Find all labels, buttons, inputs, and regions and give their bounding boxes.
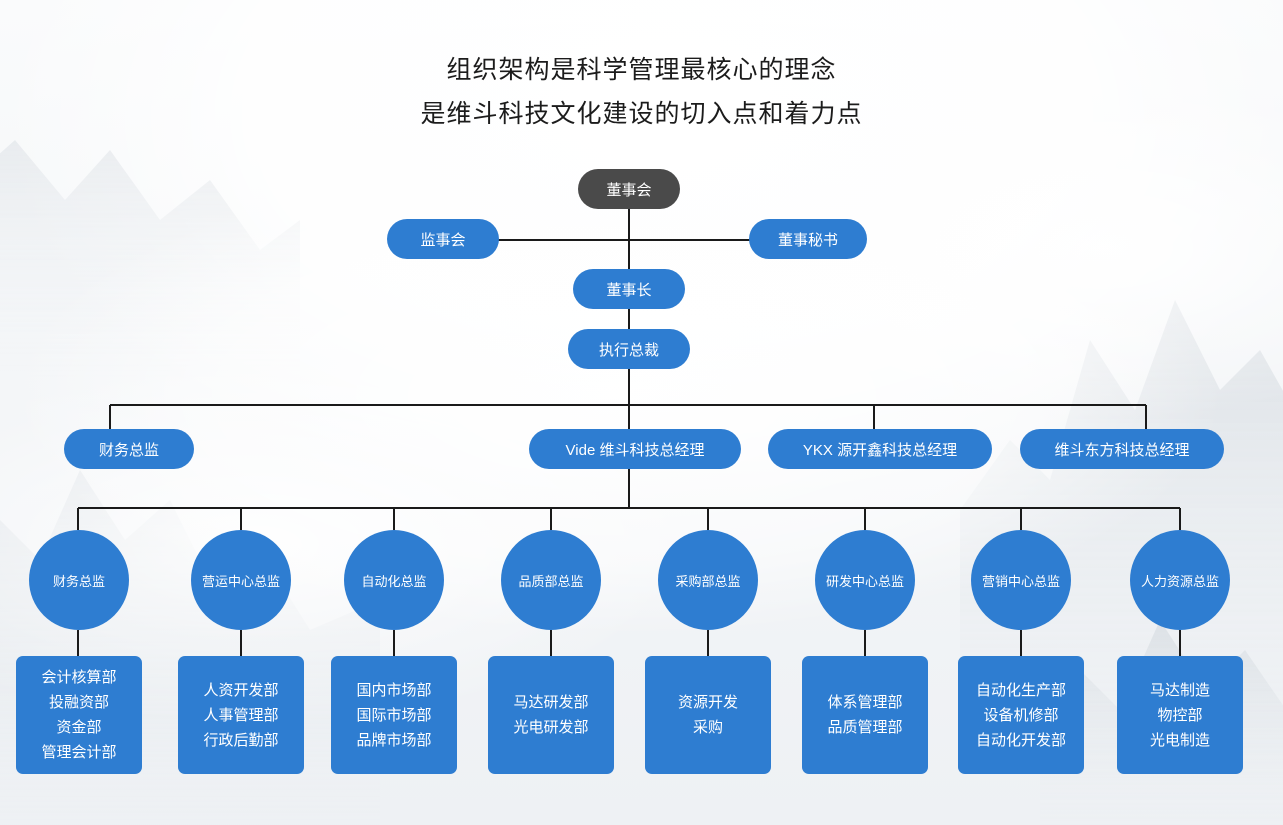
- page-title: 组织架构是科学管理最核心的理念 是维斗科技文化建设的切入点和着力点: [0, 48, 1283, 136]
- org-chart-canvas: 组织架构是科学管理最核心的理念 是维斗科技文化建设的切入点和着力点: [0, 0, 1283, 825]
- node-director-rnd-label: 研发中心总监: [826, 571, 904, 590]
- node-board[interactable]: 董事会: [578, 169, 680, 209]
- dept-line: 采购: [653, 715, 763, 740]
- node-manager-dongfang-label: 维斗东方科技总经理: [1054, 439, 1189, 460]
- node-secretary-label: 董事秘书: [778, 229, 838, 250]
- node-director-purchasing[interactable]: 采购部总监: [658, 530, 758, 630]
- node-chairman-label: 董事长: [606, 279, 651, 300]
- node-supervisors-label: 监事会: [420, 229, 465, 250]
- title-line-2: 是维斗科技文化建设的切入点和着力点: [0, 92, 1283, 136]
- dept-box-automation[interactable]: 自动化生产部 设备机修部 自动化开发部: [958, 656, 1084, 774]
- dept-line: 光电制造: [1125, 728, 1235, 753]
- node-chairman[interactable]: 董事长: [573, 269, 685, 309]
- node-director-automation[interactable]: 自动化总监: [344, 530, 444, 630]
- dept-box-manufacturing[interactable]: 马达制造 物控部 光电制造: [1117, 656, 1243, 774]
- dept-box-quality-system[interactable]: 体系管理部 品质管理部: [802, 656, 928, 774]
- node-director-finance[interactable]: 财务总监: [29, 530, 129, 630]
- dept-box-rnd-motor[interactable]: 马达研发部 光电研发部: [488, 656, 614, 774]
- dept-box-hr-admin[interactable]: 人资开发部 人事管理部 行政后勤部: [178, 656, 304, 774]
- dept-box-markets[interactable]: 国内市场部 国际市场部 品牌市场部: [331, 656, 457, 774]
- node-manager-ykx[interactable]: YKX 源开鑫科技总经理: [768, 429, 992, 469]
- dept-line: 设备机修部: [966, 703, 1076, 728]
- dept-line: 体系管理部: [810, 690, 920, 715]
- node-director-purchasing-label: 采购部总监: [675, 571, 740, 590]
- dept-line: 品质管理部: [810, 715, 920, 740]
- node-manager-vide-label: Vide 维斗科技总经理: [566, 439, 705, 460]
- node-manager-dongfang[interactable]: 维斗东方科技总经理: [1020, 429, 1224, 469]
- dept-line: 人事管理部: [186, 703, 296, 728]
- dept-line: 品牌市场部: [339, 728, 449, 753]
- dept-line: 马达制造: [1125, 678, 1235, 703]
- node-supervisors[interactable]: 监事会: [387, 219, 499, 259]
- node-director-quality[interactable]: 品质部总监: [501, 530, 601, 630]
- node-director-hr-label: 人力资源总监: [1141, 571, 1219, 590]
- node-manager-ykx-label: YKX 源开鑫科技总经理: [803, 439, 957, 460]
- dept-line: 马达研发部: [496, 690, 606, 715]
- node-director-marketing[interactable]: 营销中心总监: [971, 530, 1071, 630]
- node-manager-vide[interactable]: Vide 维斗科技总经理: [529, 429, 741, 469]
- node-ceo[interactable]: 执行总裁: [568, 329, 690, 369]
- dept-line: 国际市场部: [339, 703, 449, 728]
- dept-line: 管理会计部: [24, 740, 134, 765]
- dept-line: 投融资部: [24, 690, 134, 715]
- node-board-label: 董事会: [606, 179, 651, 200]
- node-secretary[interactable]: 董事秘书: [749, 219, 867, 259]
- node-director-marketing-label: 营销中心总监: [982, 571, 1060, 590]
- dept-line: 资金部: [24, 715, 134, 740]
- node-director-finance-label: 财务总监: [53, 571, 105, 590]
- node-director-automation-label: 自动化总监: [361, 571, 426, 590]
- dept-line: 物控部: [1125, 703, 1235, 728]
- dept-line: 行政后勤部: [186, 728, 296, 753]
- dept-line: 光电研发部: [496, 715, 606, 740]
- node-director-rnd[interactable]: 研发中心总监: [815, 530, 915, 630]
- dept-line: 自动化开发部: [966, 728, 1076, 753]
- node-director-operations[interactable]: 营运中心总监: [191, 530, 291, 630]
- dept-box-purchasing[interactable]: 资源开发 采购: [645, 656, 771, 774]
- dept-line: 国内市场部: [339, 678, 449, 703]
- dept-line: 自动化生产部: [966, 678, 1076, 703]
- dept-line: 会计核算部: [24, 665, 134, 690]
- dept-box-finance[interactable]: 会计核算部 投融资部 资金部 管理会计部: [16, 656, 142, 774]
- node-manager-cfo-label: 财务总监: [99, 439, 159, 460]
- node-director-quality-label: 品质部总监: [518, 571, 583, 590]
- dept-line: 人资开发部: [186, 678, 296, 703]
- title-line-1: 组织架构是科学管理最核心的理念: [0, 48, 1283, 92]
- node-director-hr[interactable]: 人力资源总监: [1130, 530, 1230, 630]
- dept-line: 资源开发: [653, 690, 763, 715]
- node-director-operations-label: 营运中心总监: [202, 571, 280, 590]
- node-manager-cfo[interactable]: 财务总监: [64, 429, 194, 469]
- node-ceo-label: 执行总裁: [599, 339, 659, 360]
